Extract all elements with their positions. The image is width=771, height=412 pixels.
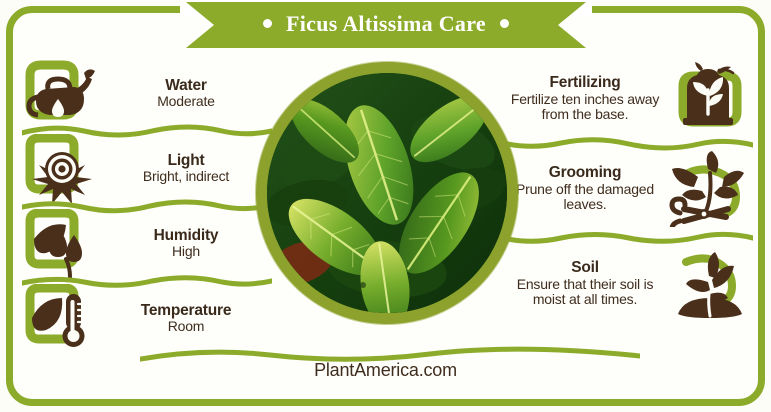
banner-dot-left-icon	[263, 19, 272, 28]
care-item-fertilizing-heading: Fertilizing	[505, 74, 665, 91]
care-item-light-detail: Bright, indirect	[106, 169, 266, 185]
care-item-water-detail: Moderate	[106, 94, 266, 110]
care-item-soil-detail: Ensure that their soil is moist at all t…	[505, 277, 665, 308]
care-item-temperature-text: Temperature Room	[104, 302, 268, 335]
care-item-light-text: Light Bright, indirect	[104, 152, 268, 185]
pruning-shears-icon	[667, 153, 749, 225]
care-item-fertilizing: Fertilizing Fertilize ten inches away fr…	[503, 56, 749, 141]
care-item-soil-text: Soil Ensure that their soil is moist at …	[503, 259, 667, 308]
website-label: PlantAmerica.com	[314, 360, 457, 380]
care-item-light: Light Bright, indirect	[22, 131, 268, 206]
sun-icon	[22, 133, 104, 205]
care-item-soil-heading: Soil	[505, 259, 665, 276]
care-item-humidity-detail: High	[106, 244, 266, 260]
left-care-column: Water Moderate L	[22, 56, 268, 356]
care-item-soil: Soil Ensure that their soil is moist at …	[503, 236, 749, 331]
care-item-fertilizing-text: Fertilizing Fertilize ten inches away fr…	[503, 74, 667, 123]
care-item-water-heading: Water	[106, 77, 266, 94]
banner-dot-right-icon	[500, 19, 509, 28]
ficus-altissima-photo	[267, 73, 507, 313]
care-item-water: Water Moderate	[22, 56, 268, 131]
care-item-grooming-heading: Grooming	[505, 164, 665, 181]
care-item-humidity: Humidity High	[22, 206, 268, 281]
care-item-humidity-heading: Humidity	[106, 227, 266, 244]
right-care-column: Fertilizing Fertilize ten inches away fr…	[503, 56, 749, 356]
care-item-light-heading: Light	[106, 152, 266, 169]
title-banner: Ficus Altissima Care	[186, 2, 586, 48]
care-item-grooming-text: Grooming Prune off the damaged leaves.	[503, 164, 667, 213]
page-title: Ficus Altissima Care	[286, 11, 486, 37]
humidity-drop-leaf-icon	[22, 208, 104, 280]
sprout-soil-icon	[667, 248, 749, 320]
care-item-fertilizing-detail: Fertilize ten inches away from the base.	[505, 92, 665, 123]
care-item-grooming-detail: Prune off the damaged leaves.	[505, 182, 665, 213]
infographic-root: Ficus Altissima Care	[0, 0, 771, 412]
care-item-water-text: Water Moderate	[104, 77, 268, 110]
center-image-ring	[256, 62, 518, 324]
footer: PlantAmerica.com	[0, 360, 771, 381]
fertilizer-sack-icon	[667, 63, 749, 135]
care-item-grooming: Grooming Prune off the damaged leaves.	[503, 141, 749, 236]
thermometer-leaf-icon	[22, 283, 104, 355]
care-item-humidity-text: Humidity High	[104, 227, 268, 260]
care-item-temperature-heading: Temperature	[106, 302, 266, 319]
watering-can-icon	[22, 58, 104, 130]
care-item-temperature-detail: Room	[106, 319, 266, 335]
